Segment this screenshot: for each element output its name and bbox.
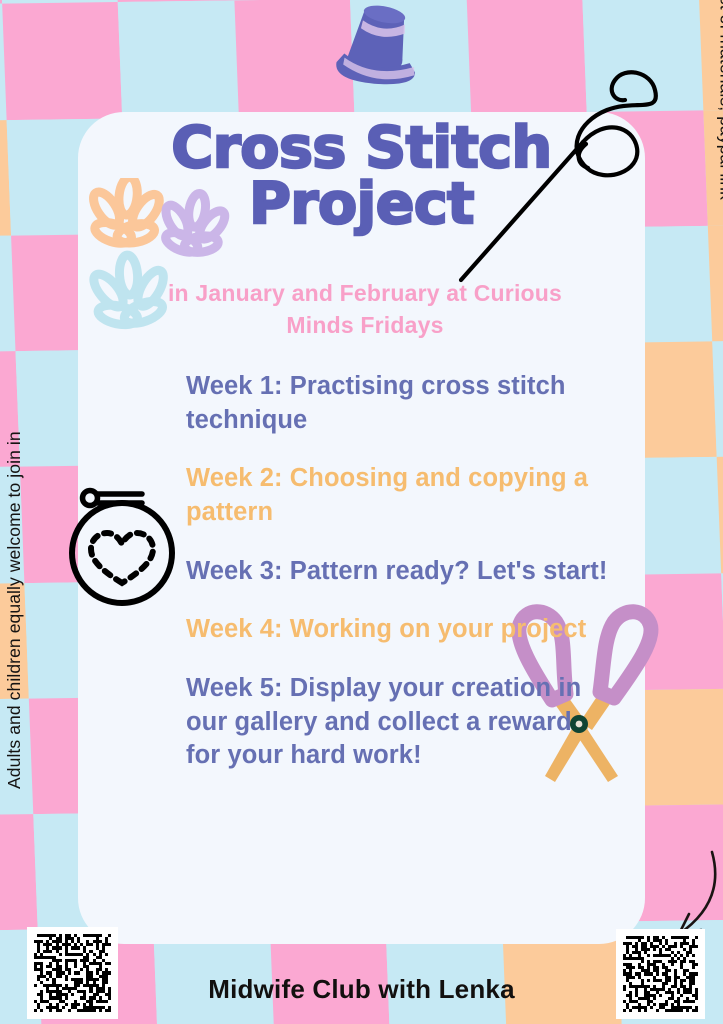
qr-code-right-modules [623, 936, 698, 1012]
qr-code-left-modules [34, 934, 111, 1012]
schedule-item-week-3: Week 3: Pattern ready? Let's start! [186, 555, 610, 589]
qr-code-right[interactable] [616, 929, 705, 1019]
page-title: Cross Stitch Project [78, 120, 645, 233]
title-line-2: Project [78, 176, 645, 232]
schedule-item-week-2: Week 2: Choosing and copying a pattern [186, 462, 610, 529]
thimble-icon [324, 0, 434, 98]
schedule-list: Week 1: Practising cross stitch techniqu… [186, 370, 610, 773]
poster-footer: Midwife Club with Lenka [78, 974, 645, 1005]
schedule-item-week-1: Week 1: Practising cross stitch techniqu… [186, 370, 610, 437]
side-note-left: Adults and children equally welcome to j… [4, 431, 25, 789]
poster-canvas: Cross Stitch Project in January and Febr… [0, 0, 723, 1024]
embroidery-hoop-icon [62, 470, 187, 610]
poster-subtitle: in January and February at Curious Minds… [140, 278, 590, 341]
schedule-item-week-5: Week 5: Display your creation in our gal… [186, 672, 610, 773]
schedule-item-week-4: Week 4: Working on your project [186, 613, 610, 647]
qr-code-left[interactable] [27, 927, 118, 1019]
side-note-right: Donationas welcome to cover the cost of … [716, 0, 723, 200]
